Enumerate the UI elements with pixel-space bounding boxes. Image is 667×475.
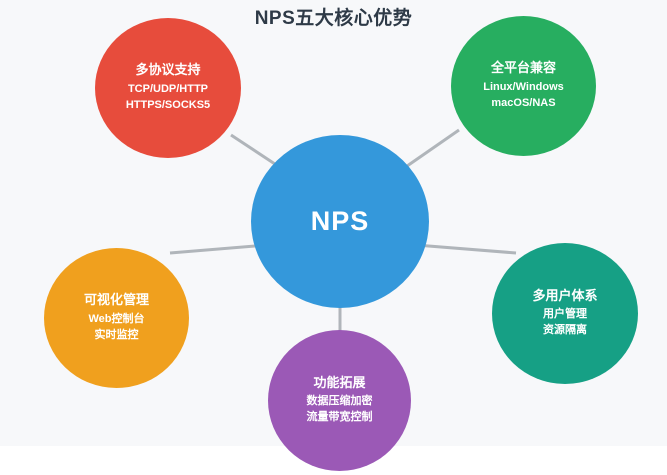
node-platform-line-1: Linux/Windows xyxy=(483,80,564,96)
node-protocol-line-2: HTTPS/SOCKS5 xyxy=(126,98,210,114)
node-visual[interactable]: 可视化管理 Web控制台 实时监控 xyxy=(44,248,189,388)
node-center-label: NPS xyxy=(311,205,370,237)
node-visual-line-1: Web控制台 xyxy=(88,312,144,328)
node-multiuser-line-1: 用户管理 xyxy=(543,307,587,323)
node-center-nps[interactable]: NPS xyxy=(251,135,429,308)
node-feature-details: 数据压缩加密 流量带宽控制 xyxy=(307,394,373,426)
node-multiuser-title: 多用户体系 xyxy=(532,288,597,304)
node-platform-title: 全平台兼容 xyxy=(491,60,556,76)
node-platform-line-2: macOS/NAS xyxy=(483,96,564,112)
node-feature-line-1: 数据压缩加密 xyxy=(307,394,373,410)
diagram-canvas: NPS五大核心优势 多协议支持 TCP/UDP/HTTP HTTPS/SOCKS… xyxy=(0,0,667,475)
node-protocol-details: TCP/UDP/HTTP HTTPS/SOCKS5 xyxy=(126,82,210,114)
edge-center-visual xyxy=(170,245,267,253)
node-multiuser[interactable]: 多用户体系 用户管理 资源隔离 xyxy=(492,243,638,384)
node-multiuser-details: 用户管理 资源隔离 xyxy=(543,307,587,339)
node-feature-title: 功能拓展 xyxy=(313,375,365,391)
node-protocol[interactable]: 多协议支持 TCP/UDP/HTTP HTTPS/SOCKS5 xyxy=(95,18,241,158)
node-protocol-line-1: TCP/UDP/HTTP xyxy=(126,82,210,98)
node-feature-line-2: 流量带宽控制 xyxy=(307,410,373,426)
node-feature[interactable]: 功能拓展 数据压缩加密 流量带宽控制 xyxy=(268,330,411,471)
edge-center-multiuser xyxy=(416,245,516,253)
node-platform-details: Linux/Windows macOS/NAS xyxy=(483,80,564,112)
node-protocol-title: 多协议支持 xyxy=(135,62,200,78)
node-visual-line-2: 实时监控 xyxy=(88,328,144,344)
node-multiuser-line-2: 资源隔离 xyxy=(543,323,587,339)
node-visual-details: Web控制台 实时监控 xyxy=(88,312,144,344)
node-platform[interactable]: 全平台兼容 Linux/Windows macOS/NAS xyxy=(451,16,596,156)
node-visual-title: 可视化管理 xyxy=(84,292,149,308)
